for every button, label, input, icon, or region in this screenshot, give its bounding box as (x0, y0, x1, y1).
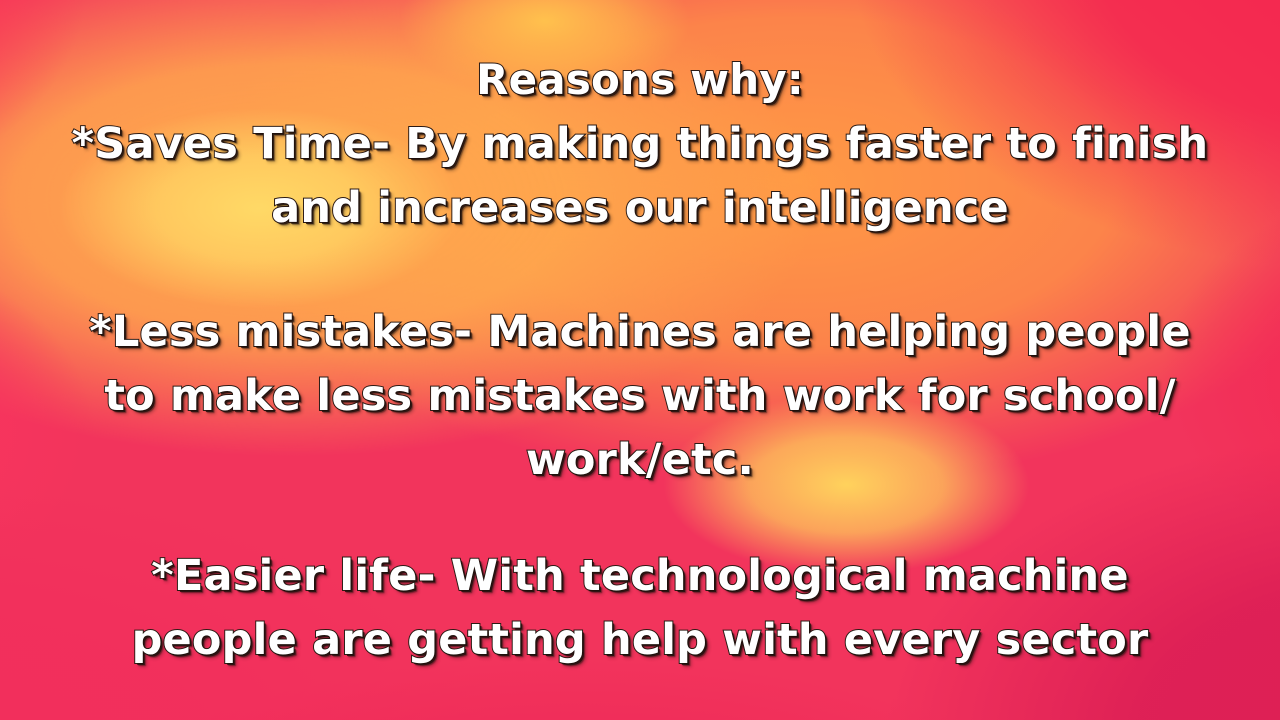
paragraph-line: and increases our intelligence (50, 176, 1230, 240)
paragraph-line: work/etc. (50, 428, 1230, 492)
slide-title-block: Reasons why: (50, 48, 1230, 112)
slide-title: Reasons why: (50, 48, 1230, 112)
paragraph-saves-time: *Saves Time- By making things faster to … (50, 112, 1230, 240)
paragraph-line: *Easier life- With technological machine (50, 544, 1230, 608)
paragraph-easier-life: *Easier life- With technological machine… (50, 544, 1230, 672)
slide-text-stage: Reasons why: *Saves Time- By making thin… (0, 0, 1280, 720)
paragraph-line: to make less mistakes with work for scho… (50, 364, 1230, 428)
paragraph-line: people are getting help with every secto… (50, 608, 1230, 672)
paragraph-less-mistakes: *Less mistakes- Machines are helping peo… (50, 300, 1230, 492)
paragraph-line: *Saves Time- By making things faster to … (50, 112, 1230, 176)
slide-canvas: Reasons why: *Saves Time- By making thin… (0, 0, 1280, 720)
paragraph-line: *Less mistakes- Machines are helping peo… (50, 300, 1230, 364)
